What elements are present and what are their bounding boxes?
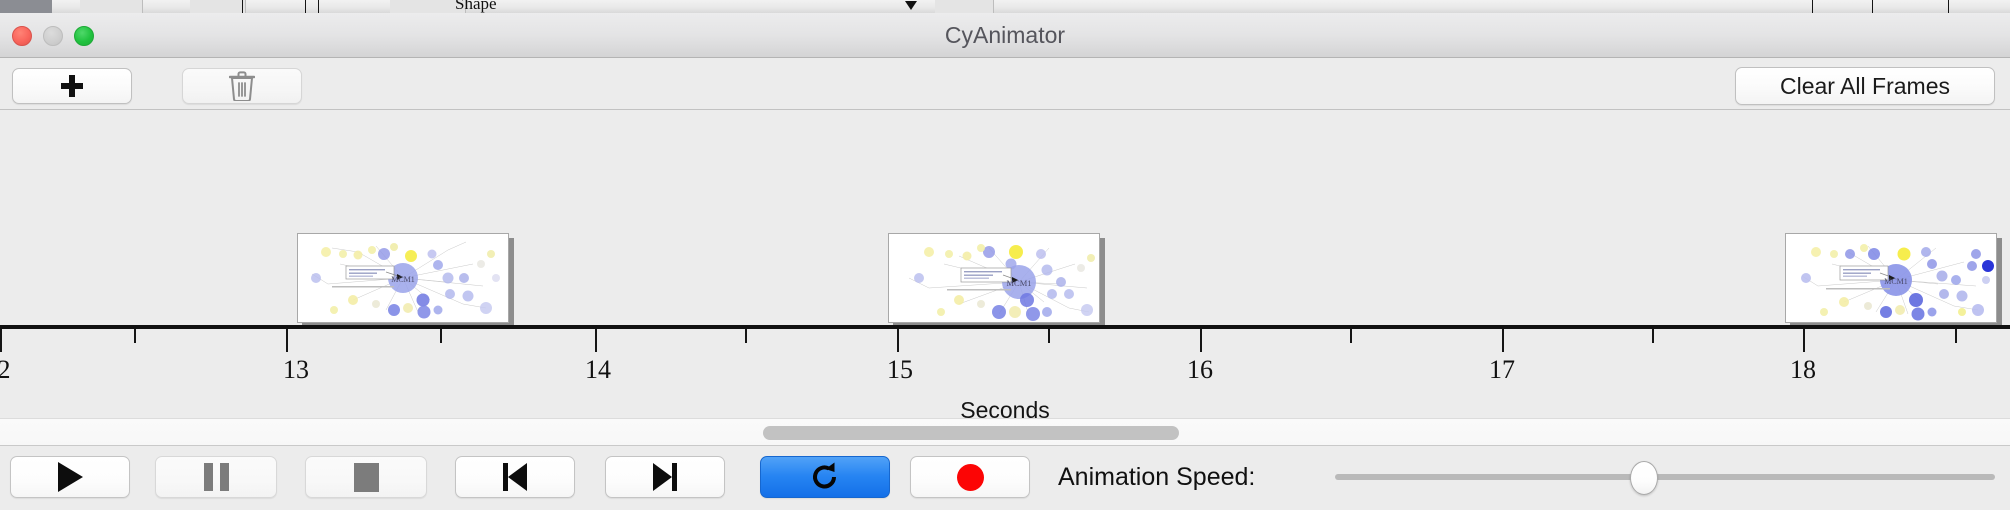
slider-thumb[interactable] — [1630, 461, 1658, 495]
axis-tick-label: 15 — [887, 355, 913, 385]
pause-icon — [204, 463, 229, 491]
axis-tick-major — [1803, 329, 1805, 352]
background-window-chip — [80, 0, 143, 13]
timeline-scrollbar[interactable] — [0, 418, 2010, 446]
svg-text:MCM1: MCM1 — [1884, 277, 1908, 286]
pause-button[interactable] — [155, 456, 277, 498]
title-bar: CyAnimator — [0, 13, 2010, 58]
axis-tick-minor — [134, 329, 136, 343]
window-title: CyAnimator — [0, 13, 2010, 58]
skip-forward-icon — [653, 463, 677, 491]
axis-tick-major — [595, 329, 597, 352]
timeline-axis: 2 13 14 15 16 17 18 Seconds — [0, 325, 2010, 425]
svg-text:MCM1: MCM1 — [1006, 278, 1031, 288]
window-traffic-lights — [12, 26, 94, 46]
frame-thumbnail: MCM1 — [297, 233, 509, 323]
play-icon — [58, 462, 83, 492]
network-graph-thumbnail: MCM1 — [889, 234, 1099, 322]
timeline-frame-3[interactable]: MCM1 — [1785, 233, 2000, 325]
background-tick — [242, 0, 243, 13]
timeline-panel[interactable]: MCM1 — [0, 110, 2010, 425]
axis-tick-minor — [440, 329, 442, 343]
plus-icon — [61, 75, 83, 97]
background-tick — [1948, 0, 1949, 13]
axis-tick-label: 16 — [1187, 355, 1213, 385]
next-frame-button[interactable] — [605, 456, 725, 498]
play-button[interactable] — [10, 456, 130, 498]
background-window-chip — [935, 0, 994, 13]
timeline-frame-2[interactable]: MCM1 — [888, 233, 1103, 325]
background-tick — [1872, 0, 1873, 13]
background-tick — [318, 0, 319, 13]
stop-button[interactable] — [305, 456, 427, 498]
record-icon — [957, 464, 984, 491]
network-graph-thumbnail: MCM1 — [1786, 234, 1996, 322]
axis-tick-minor — [1048, 329, 1050, 343]
axis-tick-major — [286, 329, 288, 352]
delete-frame-button[interactable] — [182, 68, 302, 104]
background-caret-icon — [905, 1, 917, 10]
animation-speed-label: Animation Speed: — [1058, 456, 1255, 498]
axis-tick-label: 2 — [0, 355, 11, 385]
svg-text:MCM1: MCM1 — [391, 275, 415, 284]
stop-icon — [354, 463, 379, 492]
frame-thumbnail: MCM1 — [1785, 233, 1997, 323]
axis-tick-minor — [1955, 329, 1957, 343]
slider-track[interactable] — [1335, 474, 1995, 480]
background-tick — [305, 0, 306, 13]
axis-tick-label: 18 — [1790, 355, 1816, 385]
axis-tick-label: 13 — [283, 355, 309, 385]
record-button[interactable] — [910, 456, 1030, 498]
axis-tick-minor — [745, 329, 747, 343]
cyanimator-window: Shape CyAnimator Clear All Frames — [0, 0, 2010, 510]
skip-back-icon — [503, 463, 527, 491]
frame-thumbnail: MCM1 — [888, 233, 1100, 323]
clear-all-frames-label: Clear All Frames — [1780, 73, 1950, 100]
loop-button[interactable] — [760, 456, 890, 498]
axis-tick-major — [0, 329, 2, 352]
playback-toolbar: Animation Speed: — [0, 446, 2010, 510]
axis-tick-minor — [1652, 329, 1654, 343]
loop-icon — [810, 461, 840, 493]
axis-tick-label: 14 — [585, 355, 611, 385]
frame-toolbar: Clear All Frames — [0, 58, 2010, 110]
axis-line — [0, 325, 2010, 329]
background-window-chip — [190, 0, 246, 13]
clear-all-frames-button[interactable]: Clear All Frames — [1735, 67, 1995, 105]
minimize-icon[interactable] — [43, 26, 63, 46]
axis-tick-minor — [1350, 329, 1352, 343]
add-frame-button[interactable] — [12, 68, 132, 104]
scrollbar-thumb[interactable] — [763, 426, 1179, 440]
background-tick — [1812, 0, 1813, 13]
network-graph-thumbnail: MCM1 — [298, 234, 508, 322]
axis-tick-major — [1502, 329, 1504, 352]
zoom-icon[interactable] — [74, 26, 94, 46]
background-window-strip: Shape — [0, 0, 2010, 13]
close-icon[interactable] — [12, 26, 32, 46]
trash-icon — [229, 71, 255, 101]
axis-tick-major — [1200, 329, 1202, 352]
background-window-dark-chip — [0, 0, 52, 13]
previous-frame-button[interactable] — [455, 456, 575, 498]
background-window-label: Shape — [455, 0, 497, 13]
axis-tick-label: 17 — [1489, 355, 1515, 385]
axis-tick-major — [897, 329, 899, 352]
animation-speed-slider[interactable] — [1335, 456, 1995, 498]
timeline-frame-1[interactable]: MCM1 — [297, 233, 512, 325]
